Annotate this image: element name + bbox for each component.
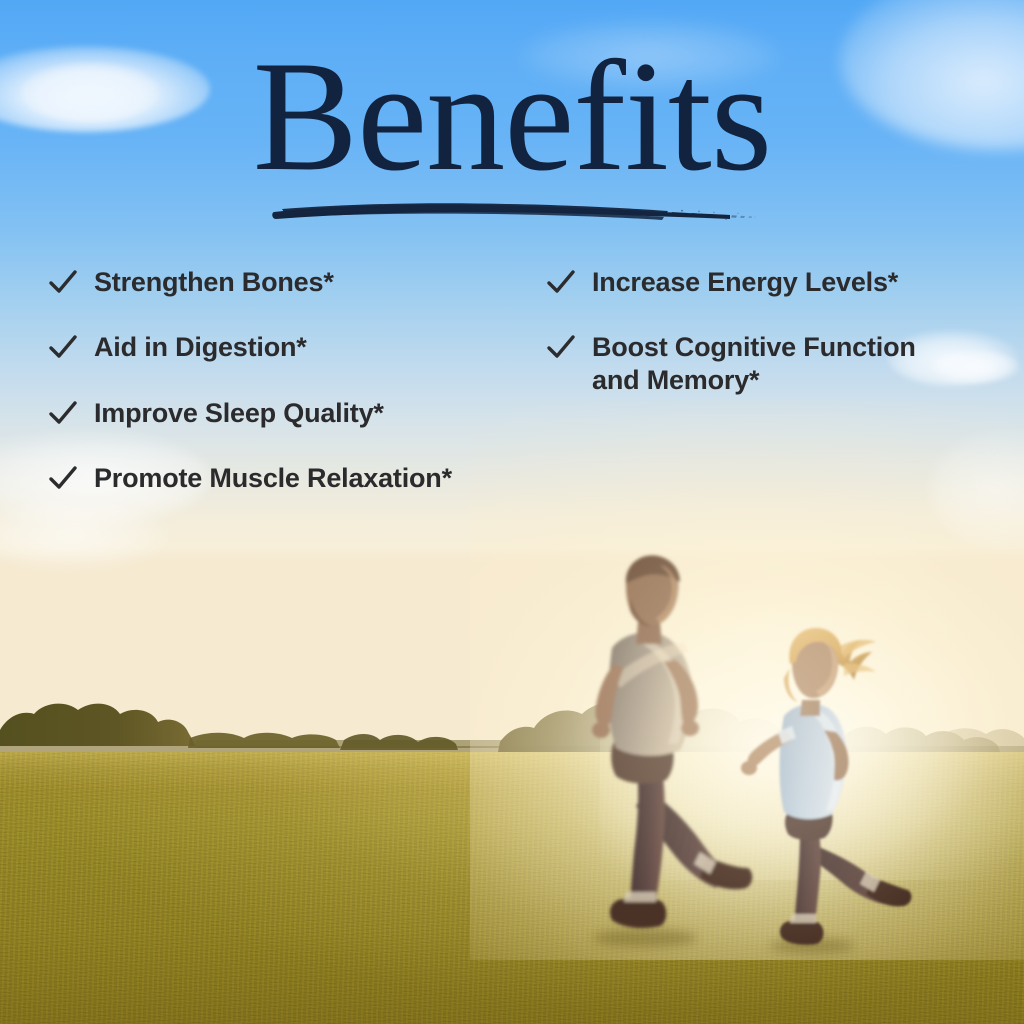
- benefit-label: Aid in Digestion*: [94, 331, 307, 364]
- benefit-item-boost-cognitive-function[interactable]: Boost Cognitive Function and Memory*: [546, 331, 916, 397]
- check-icon: [48, 464, 78, 494]
- benefit-item-increase-energy-levels[interactable]: Increase Energy Levels*: [546, 266, 898, 299]
- check-icon: [546, 268, 576, 298]
- benefit-label: Improve Sleep Quality*: [94, 397, 384, 430]
- benefit-item-promote-muscle-relaxation[interactable]: Promote Muscle Relaxation*: [48, 462, 452, 495]
- check-icon: [48, 268, 78, 298]
- poster-content: Benefits: [0, 0, 1024, 1024]
- check-icon: [48, 399, 78, 429]
- benefit-label: Boost Cognitive Function and Memory*: [592, 331, 916, 397]
- check-icon: [546, 333, 576, 363]
- benefit-label: Increase Energy Levels*: [592, 266, 898, 299]
- benefit-label: Promote Muscle Relaxation*: [94, 462, 452, 495]
- benefit-item-improve-sleep-quality[interactable]: Improve Sleep Quality*: [48, 397, 384, 430]
- benefits-list: Strengthen Bones* Aid in Digestion* Impr…: [0, 0, 1024, 1024]
- benefit-label: Strengthen Bones*: [94, 266, 334, 299]
- benefits-poster: Benefits: [0, 0, 1024, 1024]
- benefit-item-aid-in-digestion[interactable]: Aid in Digestion*: [48, 331, 307, 364]
- benefit-item-strengthen-bones[interactable]: Strengthen Bones*: [48, 266, 334, 299]
- check-icon: [48, 333, 78, 363]
